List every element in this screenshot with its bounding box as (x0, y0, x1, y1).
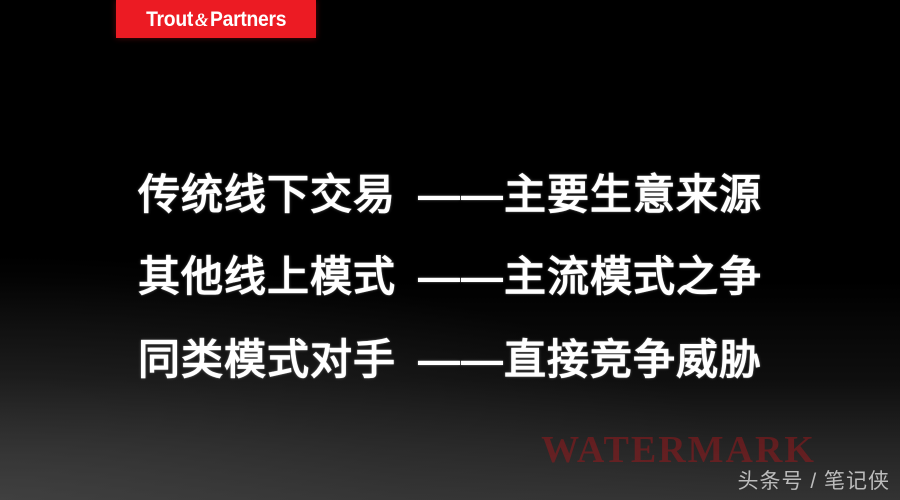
body-line-left: 传统线下交易 (138, 172, 396, 217)
slide-canvas: Trout&Partners 传统线下交易 ——主要生意来源 其他线上模式 ——… (0, 0, 900, 500)
body-line-dash: —— (418, 336, 504, 383)
brand-name-last: Partners (210, 8, 286, 31)
body-line: 其他线上模式 ——主流模式之争 (138, 254, 762, 299)
brand-logo-text: Trout&Partners (146, 9, 286, 30)
body-line-dash: —— (418, 171, 504, 218)
body-line-dash: —— (418, 253, 504, 300)
body-line-right: ——主要生意来源 (418, 172, 762, 217)
body-lines: 传统线下交易 ——主要生意来源 其他线上模式 ——主流模式之争 同类模式对手 —… (0, 172, 900, 382)
source-watermark-label: 头条号 / 笔记侠 (737, 465, 890, 495)
brand-name-first: Trout (146, 8, 193, 31)
body-line-left: 其他线上模式 (138, 254, 396, 299)
brand-logo: Trout&Partners (116, 0, 316, 38)
body-line: 同类模式对手 ——直接竞争威胁 (138, 337, 762, 382)
body-line-conclusion: 主要生意来源 (504, 171, 762, 218)
body-line-right: ——直接竞争威胁 (418, 337, 762, 382)
brand-ampersand: & (193, 10, 210, 31)
body-line-conclusion: 主流模式之争 (504, 253, 762, 300)
body-line-conclusion: 直接竞争威胁 (504, 336, 762, 383)
body-line: 传统线下交易 ——主要生意来源 (138, 172, 762, 217)
body-line-left: 同类模式对手 (138, 337, 396, 382)
body-line-right: ——主流模式之争 (418, 254, 762, 299)
